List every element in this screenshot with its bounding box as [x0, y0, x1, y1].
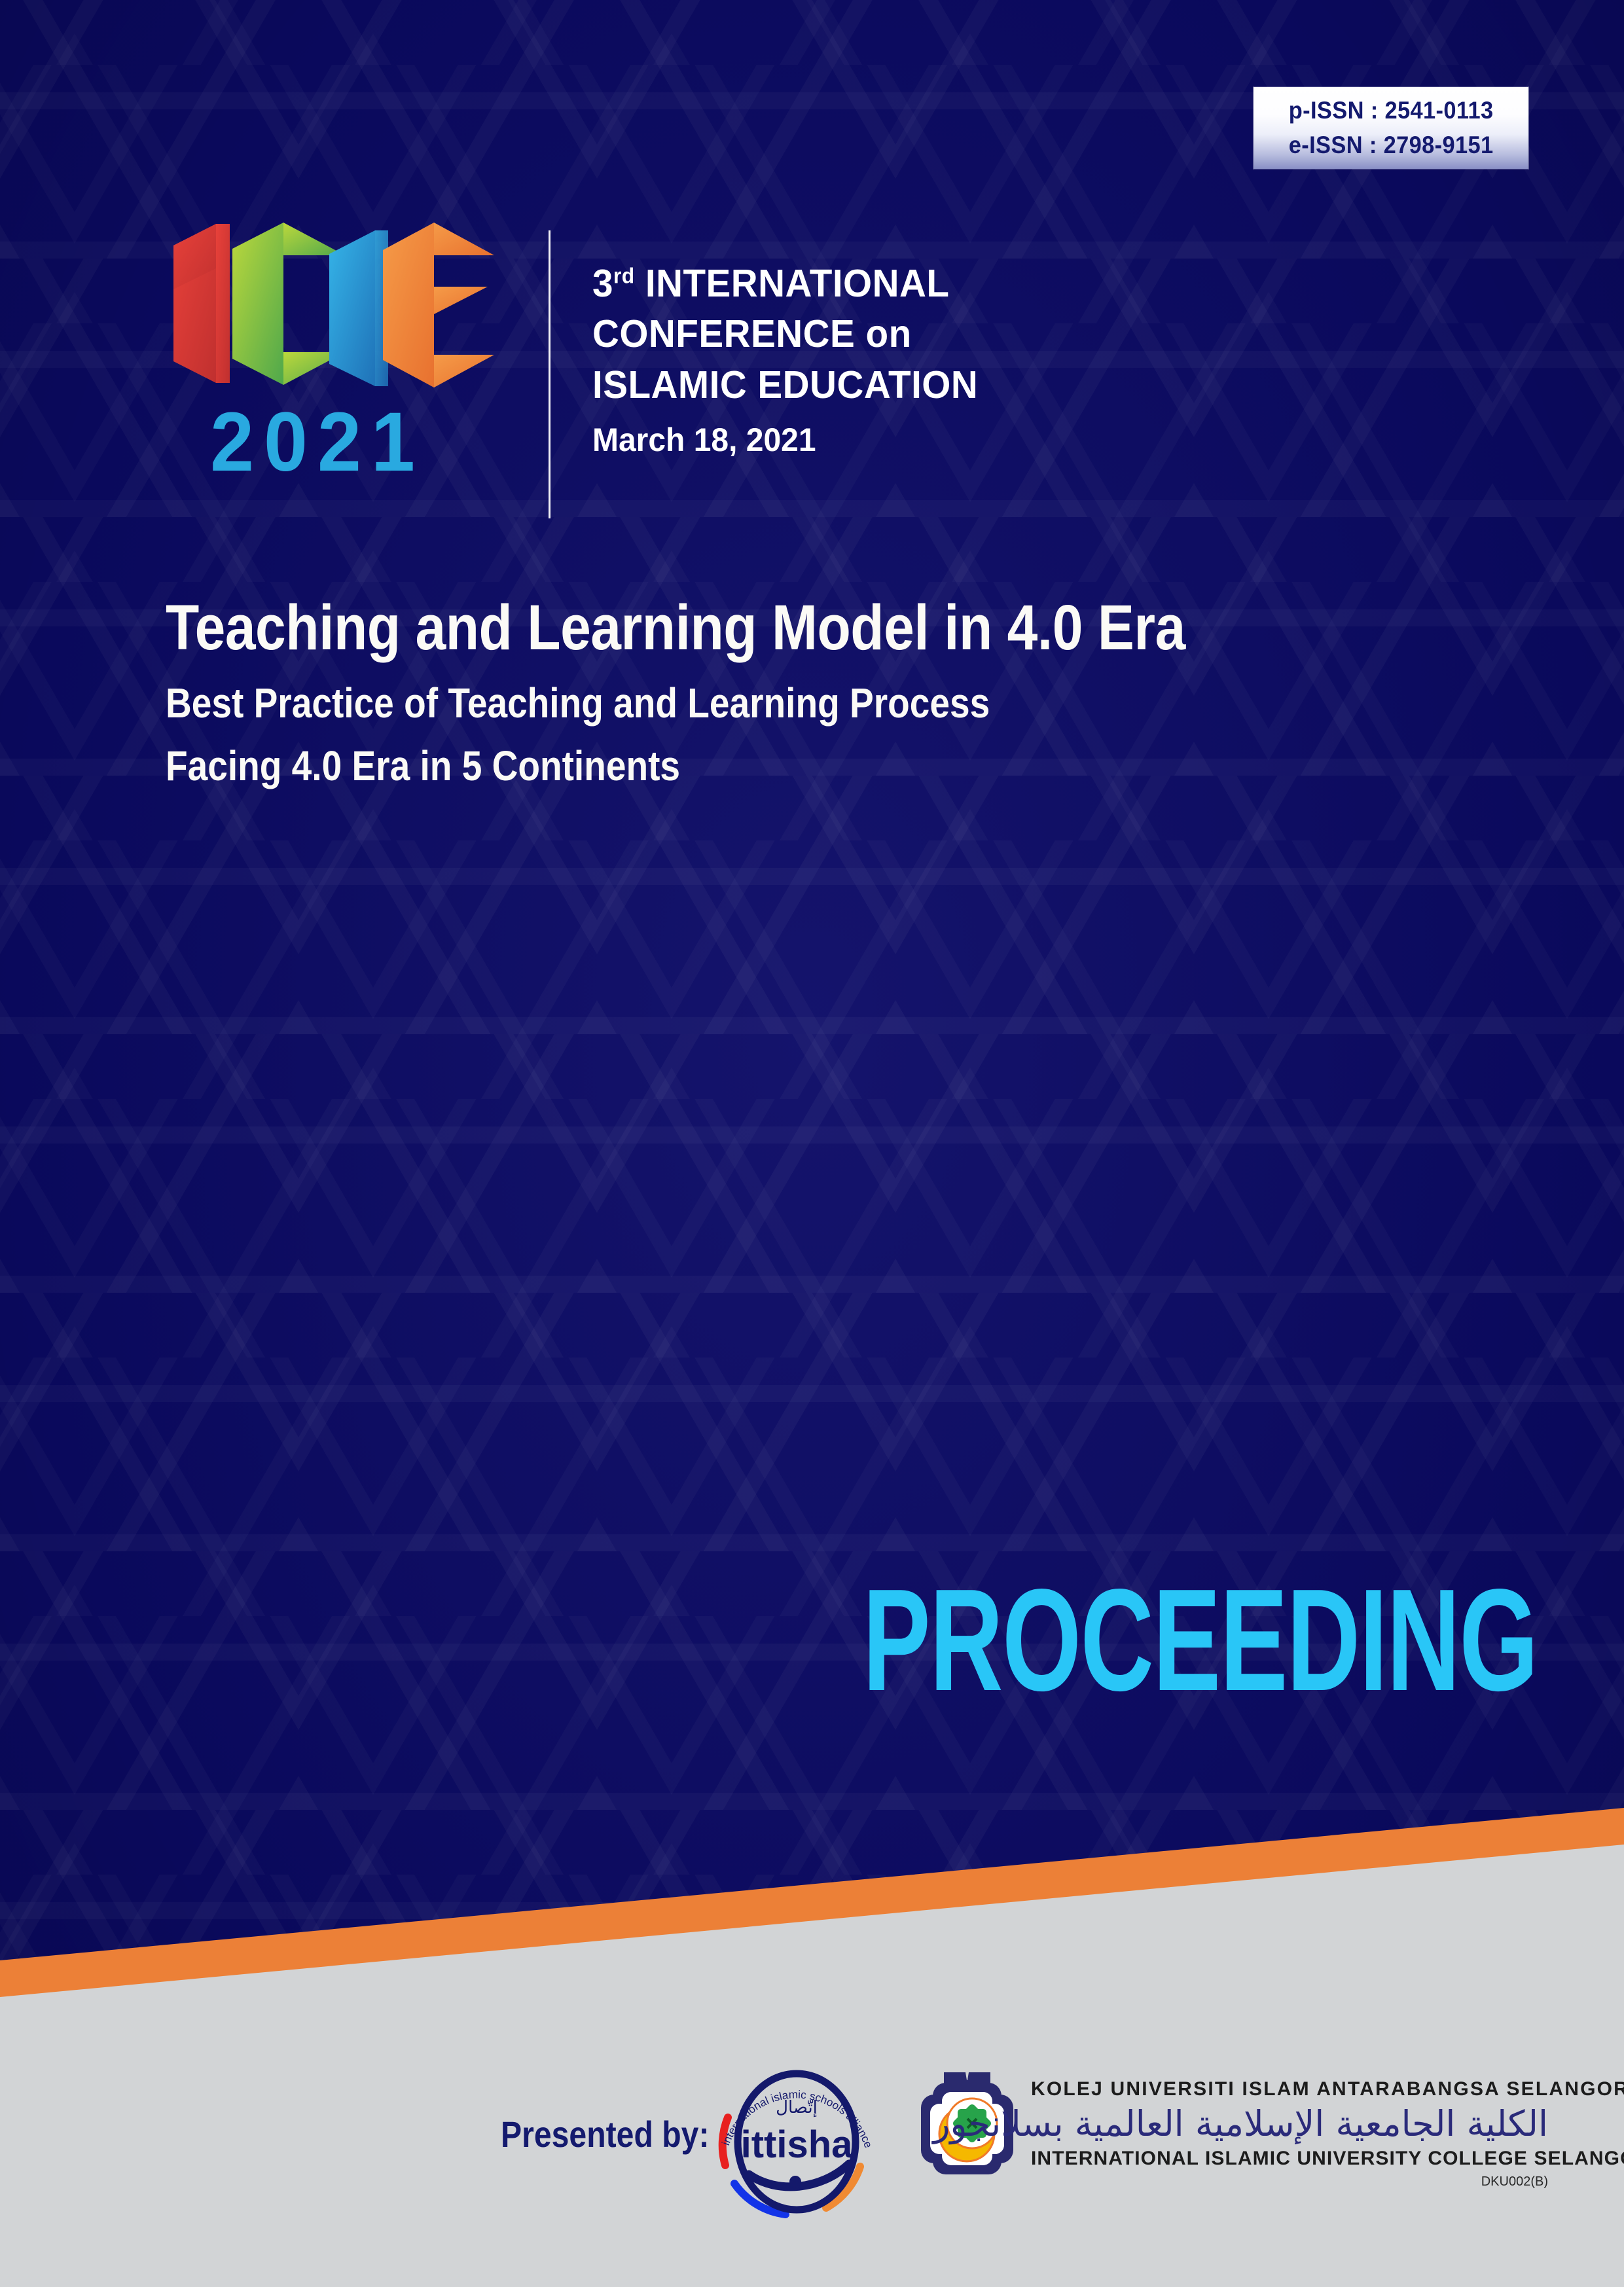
- presented-by-label: Presented by:: [501, 2113, 709, 2155]
- conference-line-1-rest: INTERNATIONAL: [635, 262, 950, 305]
- conference-heading: 3rd INTERNATIONAL CONFERENCE on ISLAMIC …: [592, 259, 1247, 459]
- ittisha-arabic-text: إتّصال: [776, 2098, 818, 2117]
- icie-logo-year: 2021: [176, 401, 459, 484]
- icie-logo: 2021: [167, 209, 514, 504]
- kuis-name-english: INTERNATIONAL ISLAMIC UNIVERSITY COLLEGE…: [1031, 2148, 1555, 2170]
- kuis-name-arabic: الكلية الجامعية الإسلامية العالمية بسلان…: [1031, 2102, 1548, 2146]
- proceeding-title: Teaching and Learning Model in 4.0 Era: [166, 594, 1242, 662]
- icie-logo-marks: [167, 209, 514, 396]
- proceeding-subtitle-1: Best Practice of Teaching and Learning P…: [166, 680, 1235, 726]
- conference-edition-ordinal: rd: [613, 263, 635, 287]
- ittisha-logo: international islamic schools alliance إ…: [708, 2055, 885, 2232]
- conference-line-2: CONFERENCE on: [592, 309, 1221, 359]
- issn-box: p-ISSN : 2541-0113 e-ISSN : 2798-9151: [1254, 87, 1528, 169]
- document-type-label: PROCEEDING: [863, 1568, 1339, 1713]
- kuis-name-malay: KOLEJ UNIVERSITI ISLAM ANTARABANGSA SELA…: [1031, 2078, 1555, 2100]
- kuis-text-block: KOLEJ UNIVERSITI ISLAM ANTARABANGSA SELA…: [1031, 2078, 1555, 2189]
- proceeding-cover: p-ISSN : 2541-0113 e-ISSN : 2798-9151: [0, 0, 1624, 2287]
- conference-line-1: 3rd INTERNATIONAL: [592, 259, 1221, 309]
- p-issn-text: p-ISSN : 2541-0113: [1289, 94, 1494, 128]
- conference-edition-number: 3: [592, 262, 613, 305]
- e-issn-text: e-ISSN : 2798-9151: [1289, 128, 1494, 163]
- conference-line-3: ISLAMIC EDUCATION: [592, 360, 1221, 410]
- header-divider-line: [549, 230, 550, 518]
- ittisha-wordmark: ittisha: [741, 2123, 854, 2166]
- conference-date: March 18, 2021: [592, 421, 1221, 459]
- kuis-registration-code: DKU002(B): [1031, 2174, 1548, 2189]
- proceeding-subtitle-2: Facing 4.0 Era in 5 Continents: [166, 743, 1235, 789]
- title-block: Teaching and Learning Model in 4.0 Era B…: [166, 594, 1409, 789]
